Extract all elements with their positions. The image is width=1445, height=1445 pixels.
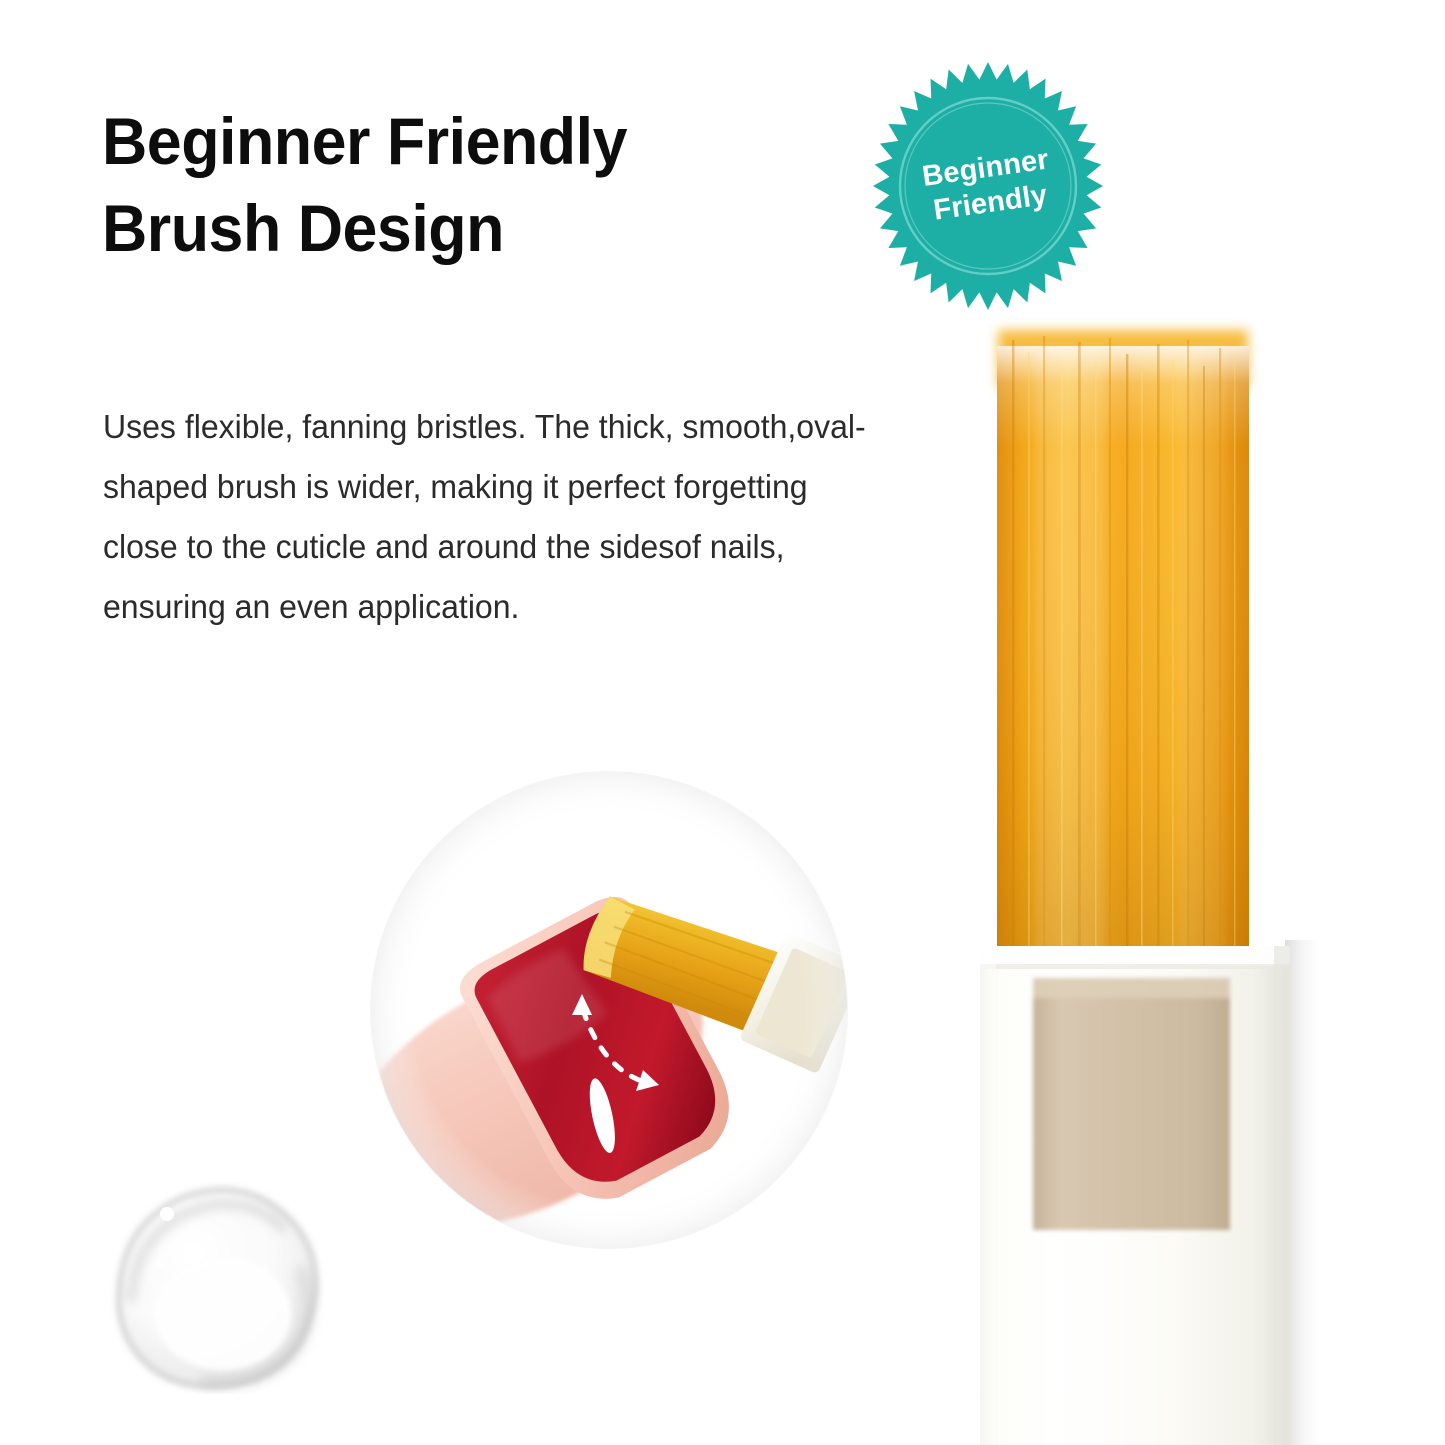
brush-handle-shadow [1285, 940, 1325, 1445]
page-title-line-1: Beginner Friendly [102, 98, 824, 185]
water-droplet-decoration [105, 1182, 327, 1394]
brush-handle [980, 946, 1290, 1445]
nail-application-closeup [371, 772, 847, 1248]
droplet-highlight-large [160, 1207, 174, 1221]
brush-core [1033, 978, 1230, 1230]
starburst-icon [873, 62, 1103, 310]
page-title: Beginner Friendly Brush Design [102, 98, 824, 272]
brush-bristles [997, 330, 1249, 966]
product-feature-slide: Beginner Friendly Brush Design Uses flex… [0, 0, 1445, 1445]
description-paragraph: Uses flexible, fanning bristles. The thi… [103, 397, 889, 637]
droplet-highlight-small [156, 1261, 162, 1267]
beginner-friendly-badge: Beginner Friendly [872, 62, 1104, 310]
nail-polish-brush-image [940, 300, 1340, 1445]
page-title-line-2: Brush Design [102, 185, 824, 272]
